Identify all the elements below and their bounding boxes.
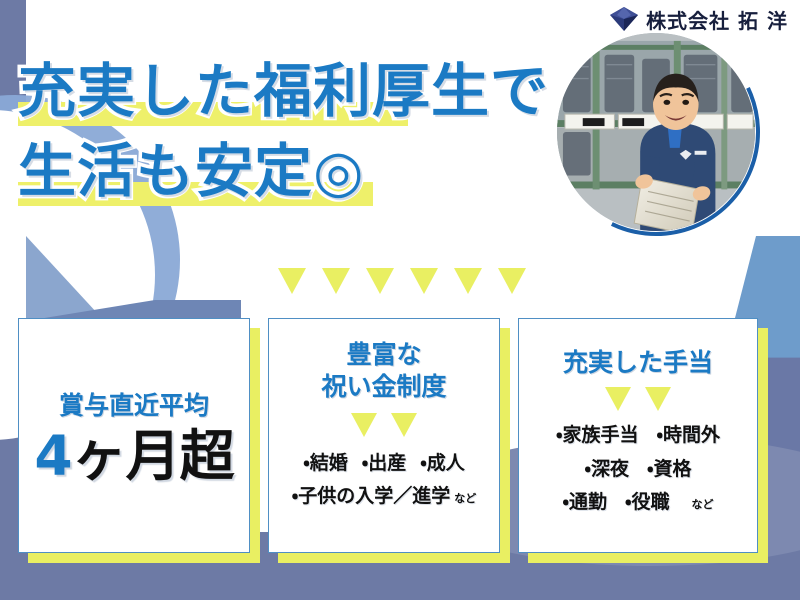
list-item: ・結婚 ・出産 ・成人 xyxy=(303,449,464,478)
allowance-item: ・深夜 xyxy=(585,455,629,484)
card-bonus: 賞与直近平均 4ヶ月超 xyxy=(18,318,250,553)
headline: 充実した福利厚生で 生活も安定◎ xyxy=(18,52,549,212)
card-celebration-list: ・結婚 ・出産 ・成人 ・子供の入学／進学 など xyxy=(292,449,476,512)
triangle-down-icon xyxy=(454,268,482,294)
card-bonus-number: 4 xyxy=(34,424,71,488)
headline-line-2-text: 生活も安定◎ xyxy=(18,137,365,205)
card-allowances-list: ・家族手当 ・時間外 ・深夜 ・資格 ・通勤 ・役職 など xyxy=(556,421,720,517)
triangle-down-icon xyxy=(391,413,417,437)
allowance-item: ・家族手当 xyxy=(556,421,638,450)
list-item: ・家族手当 ・時間外 xyxy=(556,421,720,450)
card-allowances-inner: 充実した手当 ・家族手当 ・時間外 ・深夜 ・資格 ・通勤 ・役職 など xyxy=(519,319,757,552)
triangle-down-icon xyxy=(278,268,306,294)
card-celebration-inner: 豊富な 祝い金制度 ・結婚 ・出産 ・成人 ・子供の入学／進学 など xyxy=(269,319,499,552)
card-bonus-inner: 賞与直近平均 4ヶ月超 xyxy=(19,319,249,552)
etc-suffix: など xyxy=(454,490,476,507)
company-logo: 株式会社 拓 洋 xyxy=(609,4,788,34)
triangle-down-icon xyxy=(605,387,631,411)
headline-line-1-row: 充実した福利厚生で xyxy=(18,52,549,130)
card-celebration-arrows xyxy=(351,413,417,437)
triangle-divider-row xyxy=(278,268,526,294)
card-allowances: 充実した手当 ・家族手当 ・時間外 ・深夜 ・資格 ・通勤 ・役職 など xyxy=(518,318,758,553)
staff-photo xyxy=(557,33,755,231)
headline-line-2: 生活も安定◎ xyxy=(18,132,549,210)
benefit-item: ・出産 xyxy=(362,449,406,478)
allowance-item: ・役職 xyxy=(625,488,669,517)
triangle-down-icon xyxy=(366,268,394,294)
allowance-item: ・通勤 xyxy=(563,488,607,517)
headline-line-2-row: 生活も安定◎ xyxy=(18,132,549,210)
card-celebration-title-line2: 祝い金制度 xyxy=(321,371,446,403)
triangle-down-icon xyxy=(645,387,671,411)
list-item: ・子供の入学／進学 など xyxy=(292,482,476,511)
allowance-item: ・資格 xyxy=(647,455,691,484)
triangle-down-icon xyxy=(322,268,350,294)
list-item: ・通勤 ・役職 など xyxy=(563,488,714,517)
benefit-item: ・成人 xyxy=(420,449,464,478)
headline-line-1-text: 充実した福利厚生で xyxy=(18,57,549,125)
card-allowances-title: 充実した手当 xyxy=(563,343,713,379)
diamond-gem-icon xyxy=(609,6,639,32)
benefit-item: ・子供の入学／進学 xyxy=(292,482,450,511)
card-celebration-title-line1: 豊富な xyxy=(346,339,421,371)
card-celebration-money: 豊富な 祝い金制度 ・結婚 ・出産 ・成人 ・子供の入学／進学 など xyxy=(268,318,500,553)
banner-canvas: 株式会社 拓 洋 xyxy=(0,0,800,600)
card-bonus-title: 賞与直近平均 xyxy=(59,386,209,422)
triangle-down-icon xyxy=(351,413,377,437)
list-item: ・深夜 ・資格 xyxy=(585,455,692,484)
etc-suffix: など xyxy=(691,497,713,514)
card-bonus-unit: ヶ月超 xyxy=(72,424,234,488)
triangle-down-icon xyxy=(498,268,526,294)
company-name: 株式会社 拓 洋 xyxy=(646,5,788,34)
benefit-item: ・結婚 xyxy=(303,449,347,478)
allowance-item: ・時間外 xyxy=(657,421,720,450)
triangle-down-icon xyxy=(410,268,438,294)
card-allowances-arrows xyxy=(605,387,671,411)
headline-line-1: 充実した福利厚生で xyxy=(18,52,549,130)
card-bonus-value: 4ヶ月超 xyxy=(34,428,233,486)
